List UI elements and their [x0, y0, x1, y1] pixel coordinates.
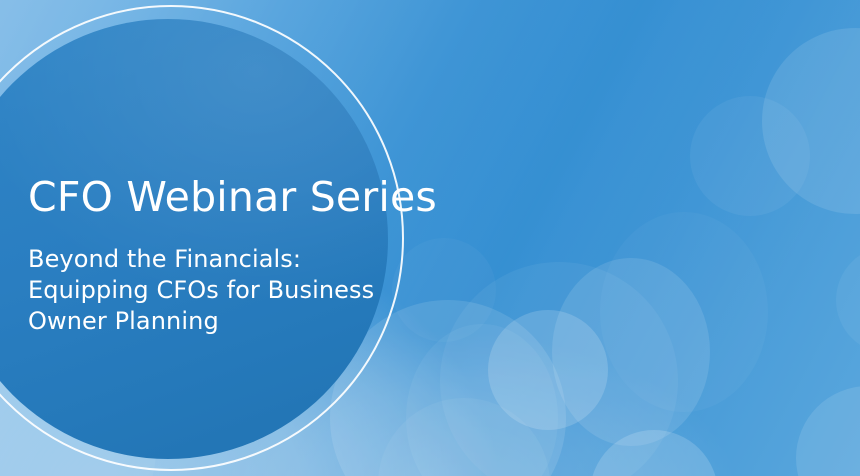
- webinar-title-slide: CFO Webinar Series Beyond the Financials…: [0, 0, 860, 476]
- slide-subtitle-line-3: Owner Planning: [28, 306, 388, 337]
- slide-title: CFO Webinar Series: [28, 172, 388, 222]
- bokeh-circle-upper-right: [690, 96, 810, 216]
- title-block: CFO Webinar Series Beyond the Financials…: [28, 172, 388, 337]
- slide-subtitle-line-2: Equipping CFOs for Business: [28, 275, 388, 306]
- bokeh-circle-mid-left: [392, 238, 496, 342]
- slide-subtitle: Beyond the Financials: Equipping CFOs fo…: [28, 222, 388, 337]
- slide-subtitle-line-1: Beyond the Financials:: [28, 244, 388, 275]
